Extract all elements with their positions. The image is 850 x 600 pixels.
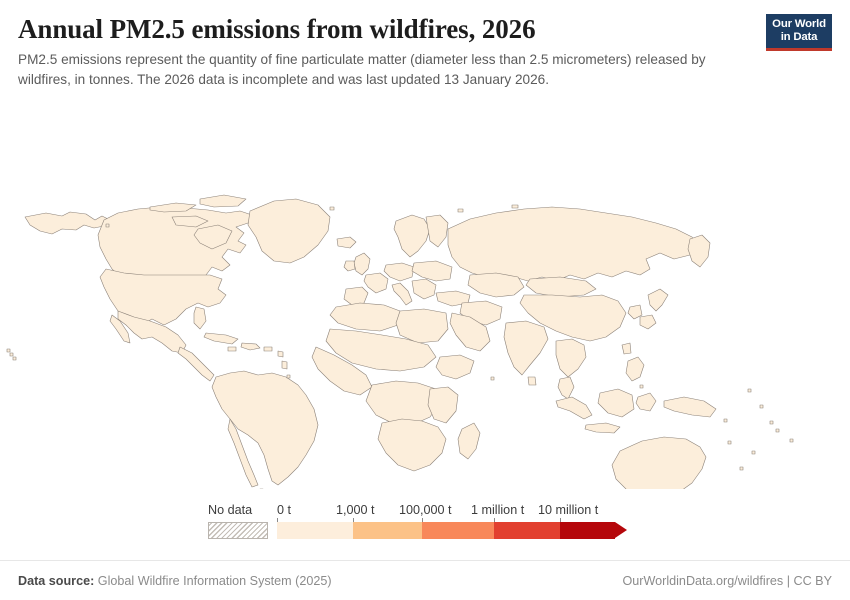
country-borneo[interactable] [598, 389, 634, 417]
legend-no-data-label: No data [208, 502, 252, 519]
data-source-label: Data source: [18, 574, 94, 588]
license-link[interactable]: OurWorldinData.org/wildfires | CC BY [622, 574, 832, 588]
legend-tick-label-2: 100,000 t [399, 502, 452, 519]
country-sri-lanka[interactable] [528, 377, 536, 385]
island-speck-13 [458, 209, 463, 212]
country-southern-africa[interactable] [378, 419, 446, 471]
legend-tick-mark-1 [353, 518, 354, 522]
island-speck-18 [724, 419, 727, 422]
legend-color-bar[interactable] [277, 522, 615, 539]
world-map-svg[interactable] [0, 89, 850, 489]
island-speck-14 [512, 205, 518, 208]
country-east-africa[interactable] [428, 387, 458, 423]
legend-no-data-swatch[interactable] [208, 522, 268, 539]
country-madagascar[interactable] [458, 423, 480, 459]
legend-no-data-group[interactable] [208, 522, 268, 539]
island-speck-7 [790, 439, 793, 442]
country-ireland[interactable] [344, 261, 355, 271]
country-taiwan[interactable] [622, 343, 631, 354]
country-sulawesi[interactable] [636, 393, 656, 411]
island-speck-5 [491, 377, 494, 380]
data-source-name: Global Wildfire Information System (2025… [98, 574, 332, 588]
country-lesser-antilles-2[interactable] [282, 361, 287, 369]
legend-tick-label-1: 1,000 t [336, 502, 375, 519]
island-speck-10 [728, 441, 731, 444]
country-finland[interactable] [426, 215, 448, 247]
legend-bin-2[interactable] [422, 522, 494, 539]
country-libya-egypt[interactable] [396, 309, 448, 343]
legend-tick-mark-3 [494, 518, 495, 522]
legend-tick-mark-4 [560, 518, 561, 522]
country-greenland[interactable] [248, 199, 330, 263]
island-speck-15 [748, 389, 751, 392]
country-new-guinea[interactable] [664, 397, 716, 417]
country-horn-of-africa[interactable] [436, 355, 474, 379]
legend-tick-label-0: 0 t [277, 502, 291, 519]
country-balkans[interactable] [412, 279, 436, 299]
country-arctic-islands-2[interactable] [200, 195, 246, 207]
owid-map-chart: Annual PM2.5 emissions from wildfires, 2… [0, 0, 850, 600]
legend-tick-label-3: 1 million t [471, 502, 524, 519]
country-mongolia[interactable] [526, 277, 596, 297]
country-france[interactable] [364, 273, 388, 293]
country-japan-south[interactable] [640, 315, 656, 329]
island-speck-2 [10, 353, 13, 356]
country-ukraine-belarus[interactable] [412, 261, 452, 281]
logo-line-1: Our World [771, 18, 827, 31]
legend-overflow-arrow-icon [615, 522, 627, 538]
legend-tick-label-4: 10 million t [538, 502, 598, 519]
legend-labels: No data 0 t 1,000 t 100,000 t 1 million … [208, 502, 648, 519]
island-speck-20 [640, 385, 643, 388]
country-hispaniola[interactable] [241, 343, 260, 350]
country-puerto-rico[interactable] [264, 347, 272, 351]
country-jamaica[interactable] [228, 347, 236, 351]
country-russia[interactable] [448, 207, 700, 281]
logo-line-2: in Data [771, 31, 827, 44]
country-scandinavia[interactable] [394, 215, 430, 257]
country-sumatra[interactable] [556, 397, 592, 419]
island-speck-1 [7, 349, 10, 352]
island-speck-3 [13, 357, 16, 360]
country-indochina[interactable] [556, 339, 586, 377]
country-japan[interactable] [648, 289, 668, 311]
legend-bin-0[interactable] [277, 522, 353, 539]
page-title: Annual PM2.5 emissions from wildfires, 2… [18, 14, 738, 44]
legend-bin-3[interactable] [494, 522, 560, 539]
country-india[interactable] [504, 321, 548, 375]
country-lesser-antilles-1[interactable] [278, 351, 283, 357]
our-world-in-data-logo[interactable]: Our World in Data [766, 14, 832, 51]
island-speck-16 [760, 405, 763, 408]
island-speck-12 [330, 207, 334, 210]
legend-inner: No data 0 t 1,000 t 100,000 t 1 million … [208, 502, 648, 554]
legend-tick-mark-0 [277, 518, 278, 522]
island-speck-4 [287, 375, 290, 378]
chart-header: Annual PM2.5 emissions from wildfires, 2… [0, 0, 850, 89]
country-us-florida[interactable] [194, 307, 206, 329]
country-kamchatka[interactable] [688, 235, 710, 267]
data-source: Data source: Global Wildfire Information… [18, 574, 332, 588]
country-cuba[interactable] [204, 333, 238, 344]
country-kazakhstan[interactable] [468, 273, 524, 297]
legend-bin-1[interactable] [353, 522, 422, 539]
legend-color-bar-group[interactable] [277, 522, 648, 539]
country-java[interactable] [585, 423, 620, 433]
license-anchor[interactable]: OurWorldinData.org/wildfires | CC BY [622, 574, 832, 588]
island-speck-9 [740, 467, 743, 470]
chart-subtitle: PM2.5 emissions represent the quantity o… [18, 50, 708, 89]
legend-tick-mark-2 [422, 518, 423, 522]
legend-bin-4[interactable] [560, 522, 615, 539]
country-australia[interactable] [612, 437, 706, 489]
island-speck-6 [776, 429, 779, 432]
chart-footer: Data source: Global Wildfire Information… [0, 560, 850, 600]
country-italy[interactable] [392, 283, 412, 305]
country-philippines[interactable] [626, 357, 644, 381]
country-alaska[interactable] [25, 212, 110, 234]
country-iceland[interactable] [337, 237, 356, 248]
island-speck-8 [752, 451, 755, 454]
country-iberia[interactable] [344, 287, 368, 305]
island-speck-11 [106, 224, 109, 227]
country-morocco-algeria[interactable] [330, 303, 400, 331]
map-legend: No data 0 t 1,000 t 100,000 t 1 million … [0, 502, 850, 554]
country-central-america[interactable] [178, 347, 214, 381]
island-speck-17 [770, 421, 773, 424]
country-united-kingdom[interactable] [354, 253, 370, 275]
country-germany-poland[interactable] [384, 263, 414, 281]
country-malay-peninsula[interactable] [558, 377, 574, 399]
